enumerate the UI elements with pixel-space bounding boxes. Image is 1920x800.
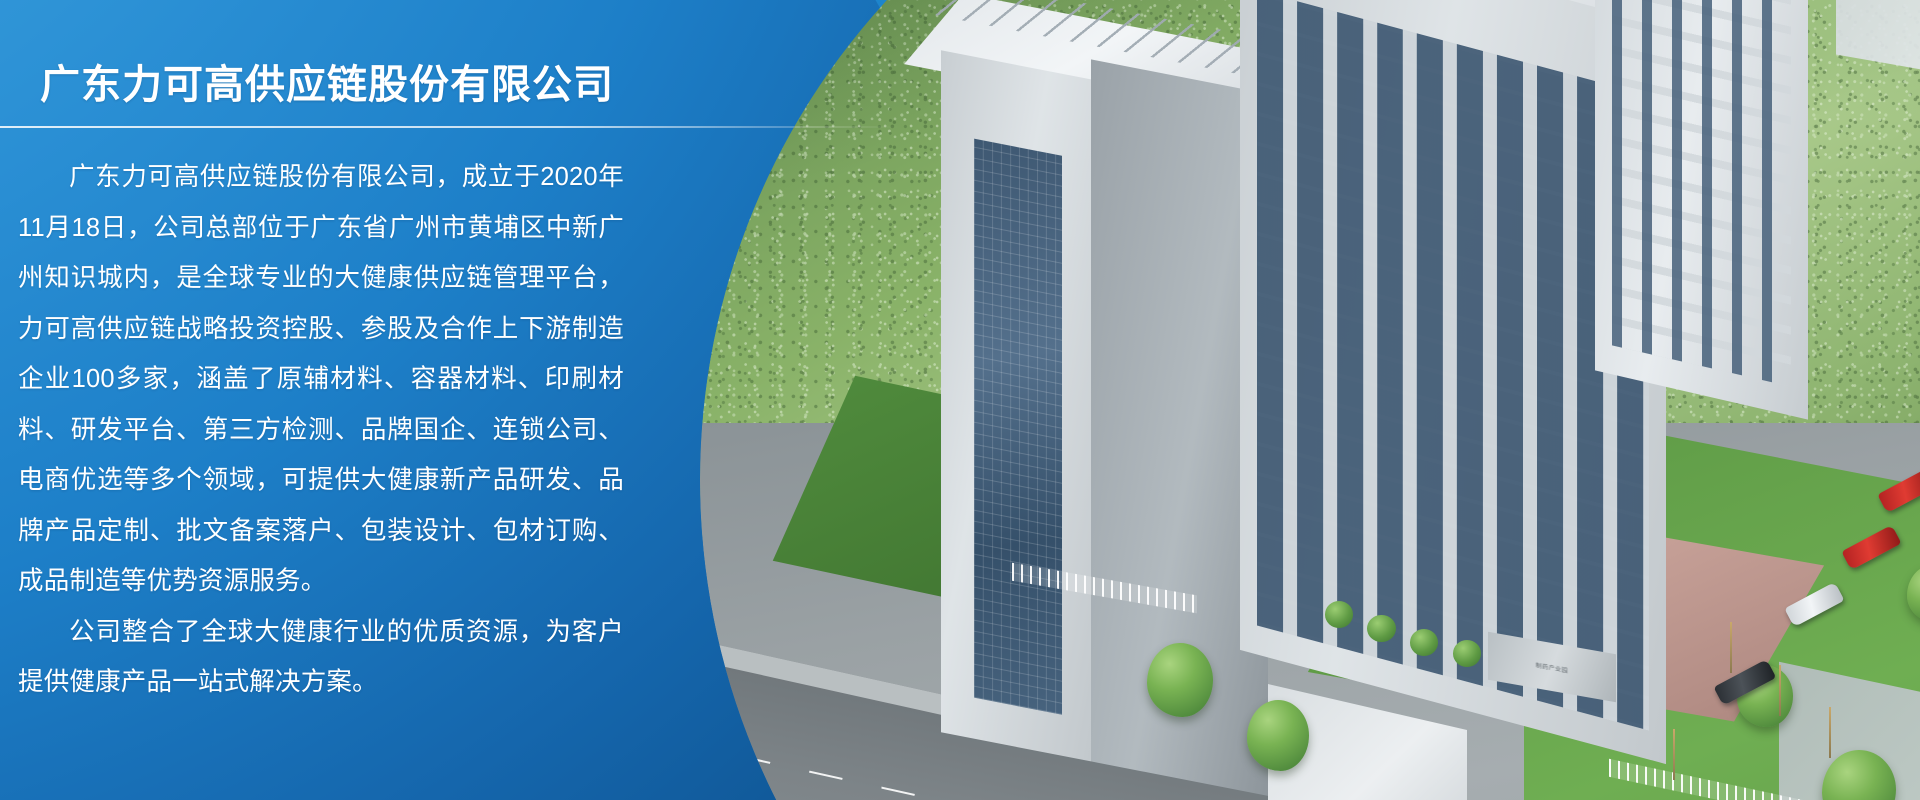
lamp-post bbox=[1779, 665, 1781, 716]
building-front-tower bbox=[941, 51, 1268, 796]
intro-paragraph-1: 广东力可高供应链股份有限公司，成立于2020年11月18日，公司总部位于广东省广… bbox=[18, 152, 624, 607]
building-rear-tower bbox=[1595, 0, 1808, 419]
title-divider bbox=[0, 126, 900, 128]
shrub bbox=[1367, 615, 1395, 642]
rear-tower-windows bbox=[1612, 0, 1791, 386]
site-sign-text: 制药产业园 bbox=[1536, 661, 1569, 675]
facility-photo: 制药产业园 bbox=[700, 0, 1920, 800]
shrub bbox=[1325, 601, 1353, 628]
company-intro-banner: 制药产业园 bbox=[0, 0, 1920, 800]
lamp-post bbox=[1730, 622, 1732, 673]
intro-paragraph-2: 公司整合了全球大健康行业的优质资源，为客户提供健康产品一站式解决方案。 bbox=[18, 607, 624, 708]
wing-window-bands bbox=[1257, 0, 1649, 730]
intro-text-column: 广东力可高供应链股份有限公司 广东力可高供应链股份有限公司，成立于2020年11… bbox=[0, 0, 680, 800]
page-title: 广东力可高供应链股份有限公司 bbox=[40, 52, 614, 110]
lamp-post bbox=[1829, 707, 1831, 758]
tree bbox=[1147, 643, 1212, 717]
tree bbox=[1247, 700, 1309, 771]
facility-photo-scene: 制药产业园 bbox=[700, 0, 1920, 800]
intro-body-copy: 广东力可高供应链股份有限公司，成立于2020年11月18日，公司总部位于广东省广… bbox=[18, 152, 624, 708]
curtain-wall-glazing bbox=[974, 139, 1062, 715]
lamp-post bbox=[1673, 729, 1675, 780]
